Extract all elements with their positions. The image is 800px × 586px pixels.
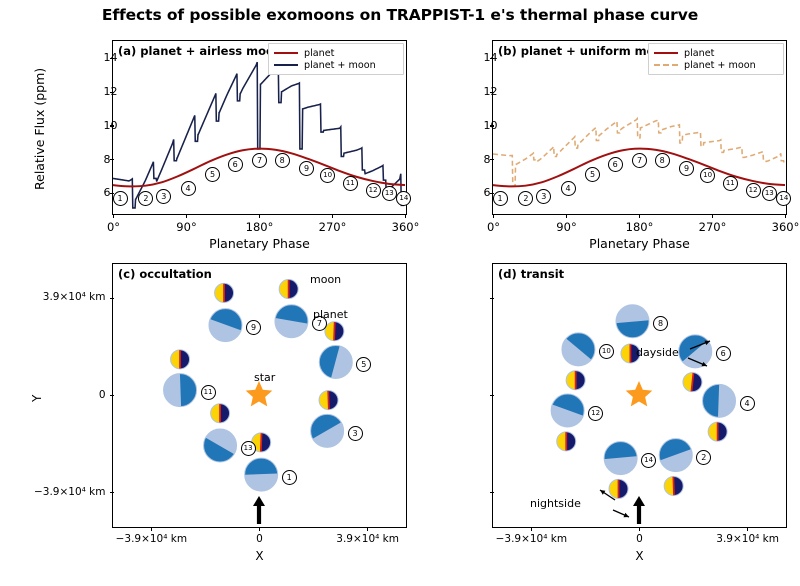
moon-terminator-1 bbox=[261, 433, 262, 451]
observer-direction-arrow-icon bbox=[633, 496, 645, 524]
orbit-marker-d-6: 6 bbox=[716, 346, 731, 361]
x-ticklabel-180°: 180° bbox=[626, 220, 654, 234]
orbit-marker-c-1: 1 bbox=[282, 470, 297, 485]
legend-swatch-solid-icon bbox=[274, 64, 298, 66]
orbit-x-axis-title: X bbox=[635, 549, 643, 563]
legend-label: planet + moon bbox=[304, 60, 376, 71]
observer-direction-arrow-icon bbox=[253, 496, 265, 524]
x-ticklabel-360°: 360° bbox=[772, 220, 800, 234]
phase-marker-b-9: 9 bbox=[679, 161, 694, 176]
x-tickmark bbox=[332, 214, 333, 218]
phase-marker-a-13: 13 bbox=[382, 186, 397, 201]
planet-disc-2 bbox=[659, 439, 692, 472]
x-tickmark bbox=[639, 214, 640, 218]
orbit-x-axis-title: X bbox=[255, 549, 263, 563]
y-tickmark bbox=[490, 298, 494, 299]
phase-marker-b-11: 11 bbox=[723, 176, 738, 191]
phase-marker-b-6: 6 bbox=[608, 157, 623, 172]
phase-marker-a-2: 2 bbox=[138, 191, 153, 206]
phase-marker-a-11: 11 bbox=[343, 176, 358, 191]
x-tickmark bbox=[151, 527, 152, 531]
orbit-marker-c-13: 13 bbox=[241, 441, 256, 456]
y-tickmark bbox=[490, 492, 494, 493]
legend-row-planet-moon: planet + moon bbox=[654, 59, 777, 71]
x-tickmark bbox=[747, 527, 748, 531]
panel-a-legend: planetplanet + moon bbox=[268, 43, 404, 75]
star-icon bbox=[626, 381, 653, 406]
moon-terminator-5 bbox=[334, 322, 335, 340]
orbit-marker-c-9: 9 bbox=[246, 320, 261, 335]
panel-b-legend: planetplanet + moon bbox=[648, 43, 784, 75]
planet-disc-13 bbox=[204, 429, 237, 462]
phase-marker-a-6: 6 bbox=[228, 157, 243, 172]
phase-marker-a-14: 14 bbox=[396, 191, 411, 206]
moon-terminator-2 bbox=[673, 477, 674, 495]
panel-c-plot-area bbox=[112, 263, 407, 528]
panel-b-label: (b) planet + uniform moon bbox=[498, 44, 671, 58]
phase-marker-a-8: 8 bbox=[275, 153, 290, 168]
phase-marker-b-13: 13 bbox=[762, 186, 777, 201]
x-ticklabel-90°: 90° bbox=[556, 220, 576, 234]
x-ticklabel-360°: 360° bbox=[392, 220, 420, 234]
orbit-x-ticklabel-1: 0 bbox=[636, 533, 643, 545]
figure-title: Effects of possible exomoons on TRAPPIST… bbox=[0, 6, 800, 24]
x-axis-title: Planetary Phase bbox=[209, 236, 310, 251]
phase-marker-b-8: 8 bbox=[655, 153, 670, 168]
orbit-marker-d-12: 12 bbox=[588, 406, 603, 421]
phase-marker-b-12: 12 bbox=[746, 183, 761, 198]
x-tickmark bbox=[405, 214, 406, 218]
orbit-x-ticklabel-0: −3.9×10⁴ km bbox=[496, 533, 568, 545]
orbit-x-ticklabel-2: 3.9×10⁴ km bbox=[716, 533, 779, 545]
planet-disc-8 bbox=[616, 305, 649, 338]
phase-marker-a-1: 1 bbox=[113, 191, 128, 206]
y-tickmark bbox=[490, 395, 494, 396]
panel-d-orbit-diagram bbox=[493, 264, 785, 526]
orbit-marker-c-3: 3 bbox=[348, 426, 363, 441]
x-axis-title: Planetary Phase bbox=[589, 236, 690, 251]
panel-c-label: (c) occultation bbox=[118, 267, 212, 281]
planet-disc-12 bbox=[551, 394, 584, 427]
moon-terminator-3 bbox=[328, 391, 329, 409]
phase-marker-b-14: 14 bbox=[776, 191, 791, 206]
phase-marker-a-9: 9 bbox=[299, 161, 314, 176]
phase-marker-b-7: 7 bbox=[632, 153, 647, 168]
star-icon bbox=[246, 381, 273, 406]
panel-c-orbit-diagram bbox=[113, 264, 405, 526]
annotation-moon: moon bbox=[310, 273, 341, 286]
phase-marker-b-3: 3 bbox=[536, 189, 551, 204]
panel-d-plot-area bbox=[492, 263, 787, 528]
phase-marker-a-4: 4 bbox=[181, 181, 196, 196]
orbit-marker-c-11: 11 bbox=[201, 385, 216, 400]
planet-disc-7 bbox=[275, 305, 308, 338]
annotation-planet: planet bbox=[313, 308, 348, 321]
x-tickmark bbox=[493, 214, 494, 218]
y-axis-title: Relative Flux (ppm) bbox=[32, 67, 47, 189]
x-tickmark bbox=[113, 214, 114, 218]
x-ticklabel-90°: 90° bbox=[176, 220, 196, 234]
x-ticklabel-270°: 270° bbox=[699, 220, 727, 234]
phase-marker-a-12: 12 bbox=[366, 183, 381, 198]
phase-marker-a-7: 7 bbox=[252, 153, 267, 168]
orbit-y-ticklabel-2: −3.9×10⁴ km bbox=[34, 486, 106, 498]
x-ticklabel-270°: 270° bbox=[319, 220, 347, 234]
planet-disc-5 bbox=[319, 346, 352, 379]
orbit-y-ticklabel-1: 0 bbox=[99, 389, 106, 401]
planet-disc-1 bbox=[245, 458, 278, 491]
x-tickmark bbox=[259, 527, 260, 531]
x-tickmark bbox=[531, 527, 532, 531]
phase-marker-b-1: 1 bbox=[493, 191, 508, 206]
y-tickmark bbox=[110, 492, 114, 493]
planet-disc-11 bbox=[164, 374, 197, 407]
x-ticklabel-180°: 180° bbox=[246, 220, 274, 234]
annotation-nightside: nightside bbox=[530, 497, 581, 510]
legend-label: planet bbox=[684, 48, 714, 59]
legend-row-planet-moon: planet + moon bbox=[274, 59, 397, 71]
planet-disc-9 bbox=[209, 309, 242, 342]
panel-a-label: (a) planet + airless moon bbox=[118, 44, 282, 58]
planet-disc-3 bbox=[311, 414, 344, 447]
x-tickmark bbox=[639, 527, 640, 531]
orbit-y-ticklabel-0: 3.9×10⁴ km bbox=[43, 291, 106, 303]
x-tickmark bbox=[367, 527, 368, 531]
x-ticklabel-0°: 0° bbox=[107, 220, 120, 234]
annotation-star: star bbox=[254, 371, 275, 384]
x-tickmark bbox=[712, 214, 713, 218]
x-tickmark bbox=[186, 214, 187, 218]
series-planet-plus-moon bbox=[113, 62, 404, 208]
legend-label: planet + moon bbox=[684, 60, 756, 71]
legend-row-planet: planet bbox=[274, 47, 397, 59]
legend-row-planet: planet bbox=[654, 47, 777, 59]
legend-swatch-dashed-icon bbox=[654, 64, 678, 66]
y-tickmark bbox=[110, 298, 114, 299]
annotation-dayside: dayside bbox=[636, 346, 679, 359]
orbit-x-ticklabel-0: −3.9×10⁴ km bbox=[116, 533, 188, 545]
orbit-y-axis-title: Y bbox=[30, 394, 44, 401]
figure-root: Effects of possible exomoons on TRAPPIST… bbox=[0, 0, 800, 586]
planet-disc-4 bbox=[703, 384, 736, 417]
phase-marker-a-3: 3 bbox=[156, 189, 171, 204]
orbit-marker-d-4: 4 bbox=[740, 396, 755, 411]
x-tickmark bbox=[566, 214, 567, 218]
planet-disc-6 bbox=[679, 335, 712, 368]
orbit-x-ticklabel-1: 0 bbox=[256, 533, 263, 545]
x-tickmark bbox=[259, 214, 260, 218]
planet-disc-14 bbox=[604, 442, 637, 475]
legend-swatch-solid-icon bbox=[274, 52, 298, 54]
phase-marker-b-4: 4 bbox=[561, 181, 576, 196]
planet-disc-10 bbox=[562, 333, 595, 366]
legend-label: planet bbox=[304, 48, 334, 59]
phase-marker-b-2: 2 bbox=[518, 191, 533, 206]
y-tickmark bbox=[110, 395, 114, 396]
x-tickmark bbox=[785, 214, 786, 218]
panel-d-label: (d) transit bbox=[498, 267, 564, 281]
x-ticklabel-0°: 0° bbox=[487, 220, 500, 234]
orbit-x-ticklabel-2: 3.9×10⁴ km bbox=[336, 533, 399, 545]
legend-swatch-solid-icon bbox=[654, 52, 678, 54]
